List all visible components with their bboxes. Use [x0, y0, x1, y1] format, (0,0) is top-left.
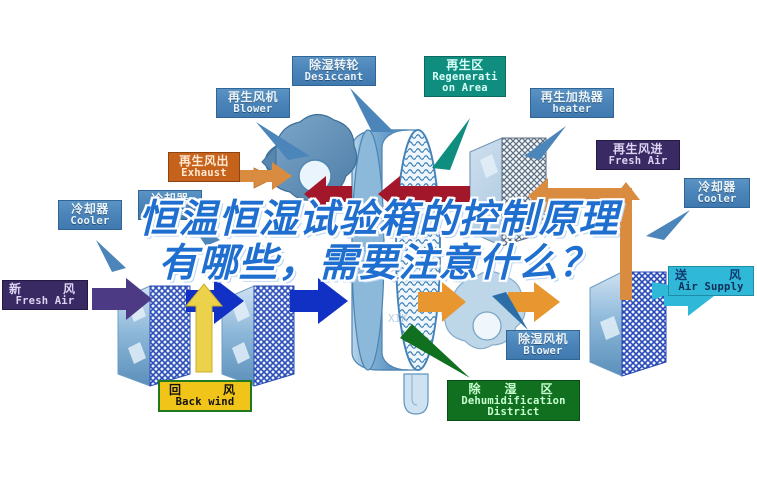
label-regeneration-area-en2: on Area — [429, 83, 501, 94]
label-cooler-left-front[interactable]: 冷却器 Cooler — [58, 200, 122, 230]
label-regeneration-fresh-air[interactable]: 再生风进 Fresh Air — [596, 140, 680, 170]
label-cooler-left-front-en: Cooler — [63, 216, 117, 227]
schematic-illustration: XIK — [0, 0, 757, 488]
label-air-supply-en: Air Supply — [673, 282, 749, 293]
arrow-process-air-2 — [290, 278, 348, 324]
label-cooler-right-en: Cooler — [689, 194, 745, 205]
label-regeneration-area-cn: 再生区 — [429, 59, 501, 72]
desiccant-rotor-drum: XIK — [352, 130, 440, 370]
label-desiccant-wheel-en: Desiccant — [297, 72, 371, 83]
label-desiccant-wheel-cn: 除湿转轮 — [297, 59, 371, 72]
label-air-supply[interactable]: 送 风 Air Supply — [668, 266, 754, 296]
label-cooler-right-cn: 冷却器 — [689, 181, 745, 194]
label-desiccant-wheel[interactable]: 除湿转轮 Desiccant — [292, 56, 376, 86]
label-regeneration-exhaust-cn: 再生风出 — [173, 155, 235, 168]
label-dehumidification-district-cn: 除 湿 区 — [452, 383, 575, 396]
svg-text:XIK: XIK — [388, 312, 408, 325]
label-regeneration-exhaust[interactable]: 再生风出 Exhaust — [168, 152, 240, 182]
arrow-regen-inlet-left — [528, 178, 632, 214]
label-fresh-air-inlet-cn: 新 风 — [7, 283, 83, 296]
label-regeneration-blower-en: Blower — [221, 104, 285, 115]
label-regeneration-blower-cn: 再生风机 — [221, 91, 285, 104]
label-cooler-right[interactable]: 冷却器 Cooler — [684, 178, 750, 208]
label-back-wind-cn: 回 风 — [164, 384, 246, 397]
label-dehumidification-district-en2: District — [452, 407, 575, 418]
label-regeneration-heater-cn: 再生加热器 — [535, 91, 609, 104]
label-fresh-air-inlet-en: Fresh Air — [7, 296, 83, 307]
label-air-supply-cn: 送 风 — [673, 269, 749, 282]
label-dehumidification-blower-en: Blower — [511, 346, 575, 357]
label-regeneration-exhaust-en: Exhaust — [173, 168, 235, 179]
label-regeneration-fresh-air-cn: 再生风进 — [601, 143, 675, 156]
label-regeneration-fresh-air-en: Fresh Air — [601, 156, 675, 167]
label-dehumidification-district-en1: Dehumidification — [452, 396, 575, 407]
label-fresh-air-inlet[interactable]: 新 风 Fresh Air — [2, 280, 88, 310]
label-back-wind[interactable]: 回 风 Back wind — [158, 380, 252, 412]
label-dehumidification-district[interactable]: 除 湿 区 Dehumidification District — [447, 380, 580, 421]
label-back-wind-en: Back wind — [164, 397, 246, 408]
label-regeneration-heater-en: heater — [535, 104, 609, 115]
label-regeneration-heater[interactable]: 再生加热器 heater — [530, 88, 614, 118]
drum-bottom-duct — [404, 374, 428, 414]
label-regeneration-blower[interactable]: 再生风机 Blower — [216, 88, 290, 118]
label-cooler-left-front-cn: 冷却器 — [63, 203, 117, 216]
label-dehumidification-blower-cn: 除湿风机 — [511, 333, 575, 346]
label-cooler-left-back-cn: 冷却器 — [143, 193, 197, 206]
label-cooler-left-back-en: Cooler — [143, 206, 197, 217]
label-regeneration-area-en1: Regenerati — [429, 72, 501, 83]
label-cooler-left-back[interactable]: 冷却器 Cooler — [138, 190, 202, 220]
label-dehumidification-blower[interactable]: 除湿风机 Blower — [506, 330, 580, 360]
label-regeneration-area[interactable]: 再生区 Regenerati on Area — [424, 56, 506, 97]
diagram-canvas: XIK — [0, 0, 757, 488]
